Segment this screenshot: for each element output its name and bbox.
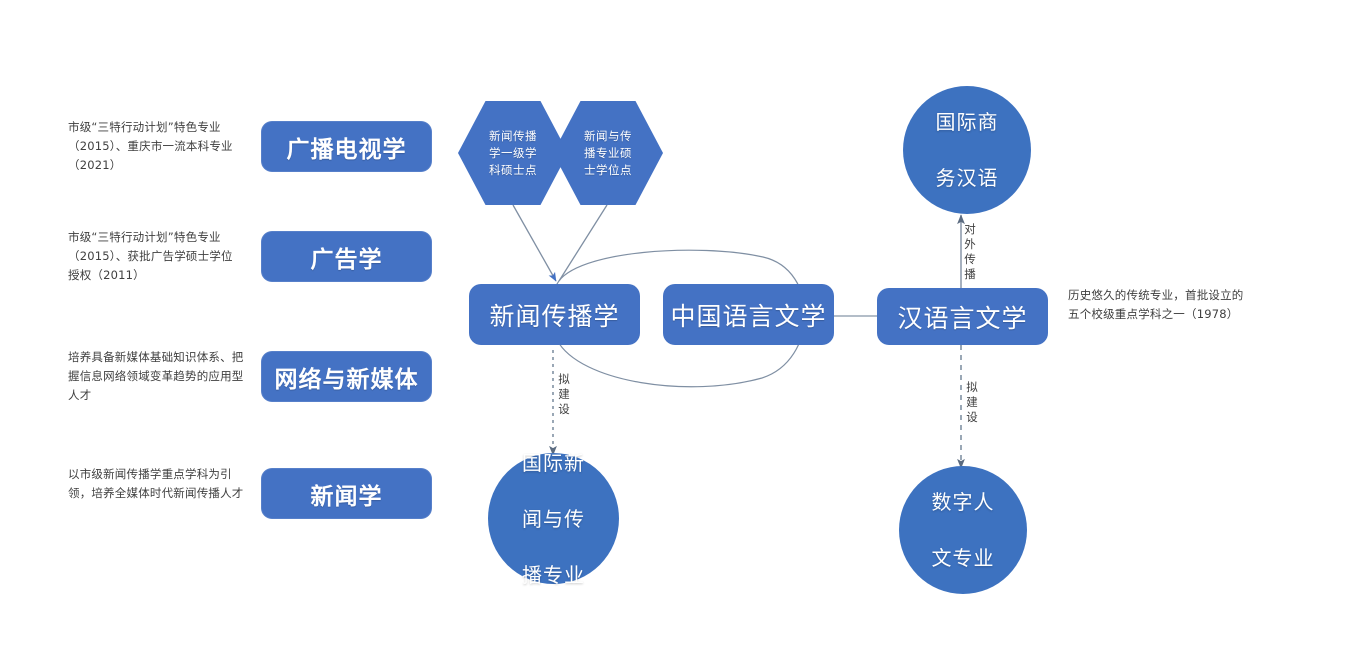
circle-guojishangwuhanyu[interactable]: 国际商务汉语: [903, 86, 1031, 214]
wire-hex2-to-xinwenchuanboxue: [559, 205, 607, 281]
note-guanggaoxue: 市级“三特行动计划”特色专业（2015）、获批广告学硕士学位授权（2011）: [68, 228, 244, 285]
circle-guojixinwenyuchuanbozhuanye[interactable]: 国际新闻与传播专业: [488, 453, 619, 584]
major-guangbodianshixue[interactable]: 广播电视学: [261, 121, 432, 172]
discipline-zhongguoyuyanwenxue[interactable]: 中国语言文学: [663, 284, 834, 345]
hexagon-zhuanye-shuoshi-label: 新闻与传播专业硕士学位点: [579, 128, 637, 179]
note-wangluoyuxinmeiti: 培养具备新媒体基础知识体系、把握信息网络领域变革趋势的应用型人才: [68, 348, 244, 405]
edge-label-nijianshe-right: 拟建设: [965, 380, 979, 425]
discipline-xinwenchuanboxue[interactable]: 新闻传播学: [469, 284, 640, 345]
hexagon-yiji-xueke-label: 新闻传播学一级学科硕士点: [484, 128, 542, 179]
circle-shuzirenwen-label: 数字人文专业: [930, 488, 996, 572]
circle-guojishangwuhanyu-label: 国际商务汉语: [934, 108, 1000, 192]
note-xinwenxue: 以市级新闻传播学重点学科为引领，培养全媒体时代新闻传播人才: [68, 465, 244, 503]
edge-label-duiwaichuanbo: 对外传播: [963, 222, 977, 282]
line-3: 播专业: [518, 561, 590, 589]
line-2: 文专业: [930, 544, 996, 572]
circle-guojixinwen-label: 国际新闻与传播专业: [518, 449, 590, 589]
major-wangluoyuxinmeiti[interactable]: 网络与新媒体: [261, 351, 432, 402]
diagram-canvas: 市级“三特行动计划”特色专业（2015）、重庆市一流本科专业（2021） 市级“…: [0, 0, 1366, 651]
line-1: 数字人: [930, 488, 996, 516]
hexagon-zhuanye-shuoshi-xueweidian[interactable]: 新闻与传播专业硕士学位点: [553, 101, 663, 205]
discipline-hanyuyanwenxue[interactable]: 汉语言文学: [877, 288, 1048, 345]
major-xinwenxue[interactable]: 新闻学: [261, 468, 432, 519]
edge-label-nijianshe-left: 拟建设: [557, 372, 571, 417]
wire-hex1-to-xinwenchuanboxue: [513, 205, 556, 281]
line-2: 务汉语: [934, 164, 1000, 192]
hexagon-yiji-xueke-shuoshidian[interactable]: 新闻传播学一级学科硕士点: [458, 101, 568, 205]
note-guangbodianshixue: 市级“三特行动计划”特色专业（2015）、重庆市一流本科专业（2021）: [68, 118, 244, 175]
line-2: 闻与传: [518, 505, 590, 533]
line-1: 国际新: [518, 449, 590, 477]
line-1: 国际商: [934, 108, 1000, 136]
note-hanyuyanwenxue: 历史悠久的传统专业，首批设立的五个校级重点学科之一（1978）: [1068, 286, 1254, 324]
major-guanggaoxue[interactable]: 广告学: [261, 231, 432, 282]
circle-shuzirenwenzhuanye[interactable]: 数字人文专业: [899, 466, 1027, 594]
